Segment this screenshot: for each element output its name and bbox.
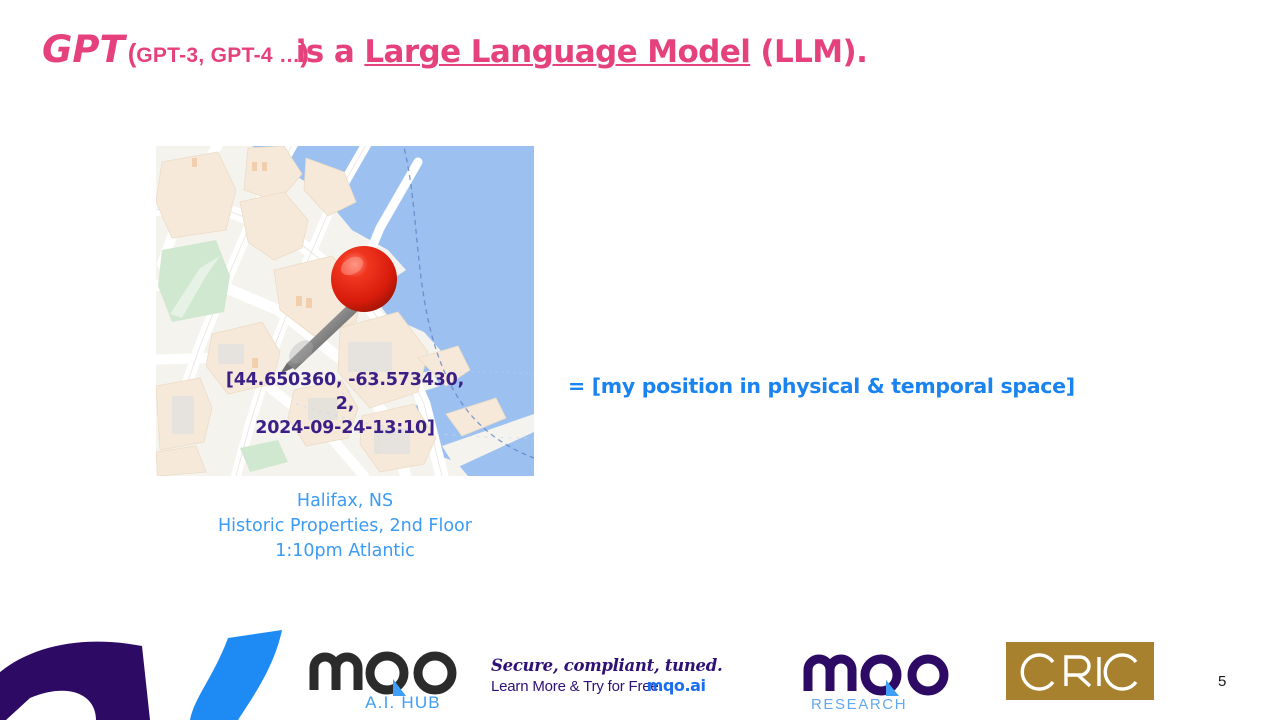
blue-swoosh-shape [190, 630, 282, 720]
aihub-sublabel: A.I. HUB [365, 693, 441, 711]
title-rest-before: is a [296, 34, 365, 70]
slide: GPT(GPT-3, GPT-4 …)is a Large Language M… [0, 0, 1280, 720]
title-underlined: Large Language Model [364, 34, 750, 70]
decorative-shapes [0, 624, 300, 720]
title-paren-open: ( [128, 38, 136, 68]
tagline-url-link[interactable]: mqo.ai [647, 676, 706, 695]
title-rest: is a Large Language Model (LLM). [296, 34, 868, 70]
title-variants: (GPT-3, GPT-4 …) [128, 38, 309, 68]
map-caption: Halifax, NS Historic Properties, 2nd Flo… [140, 489, 550, 564]
cric-wordmark: CRIC [1080, 642, 1119, 646]
tagline-line-2-wrap: Learn More & Try for Freemqo.ai [491, 676, 722, 697]
tagline-block: Secure, compliant, tuned. Learn More & T… [491, 656, 722, 697]
tagline-line-1: Secure, compliant, tuned. [491, 656, 722, 676]
research-sublabel: RESEARCH [811, 696, 907, 711]
map-graphic [156, 146, 534, 476]
title-gpt: GPT [42, 28, 125, 71]
purple-arc-shape [0, 642, 150, 720]
logo-cric: CRIC [1006, 642, 1154, 700]
tagline-line-2: Learn More & Try for Free [491, 678, 659, 695]
caption-line-1: Halifax, NS [140, 489, 550, 514]
map-canvas [156, 146, 534, 476]
title-variants-text: GPT-3, GPT-4 … [136, 44, 300, 67]
mqo-wordmark-aihub [314, 656, 452, 690]
mqo-wordmark-research [808, 659, 944, 691]
caption-line-3: 1:10pm Atlantic [140, 539, 550, 564]
equation-text: = [my position in physical & temporal sp… [568, 374, 1075, 398]
title-rest-after: (LLM). [750, 34, 867, 70]
page-title: GPT(GPT-3, GPT-4 …)is a Large Language M… [42, 28, 867, 71]
logo-mqo-ai-hub: A.I. HUB [307, 639, 472, 711]
slide-number: 5 [1218, 673, 1226, 690]
caption-line-2: Historic Properties, 2nd Floor [140, 514, 550, 539]
logo-mqo-research: RESEARCH [801, 643, 967, 711]
map-figure: [44.650360, -63.573430, 2, 2024-09-24-13… [156, 146, 534, 476]
